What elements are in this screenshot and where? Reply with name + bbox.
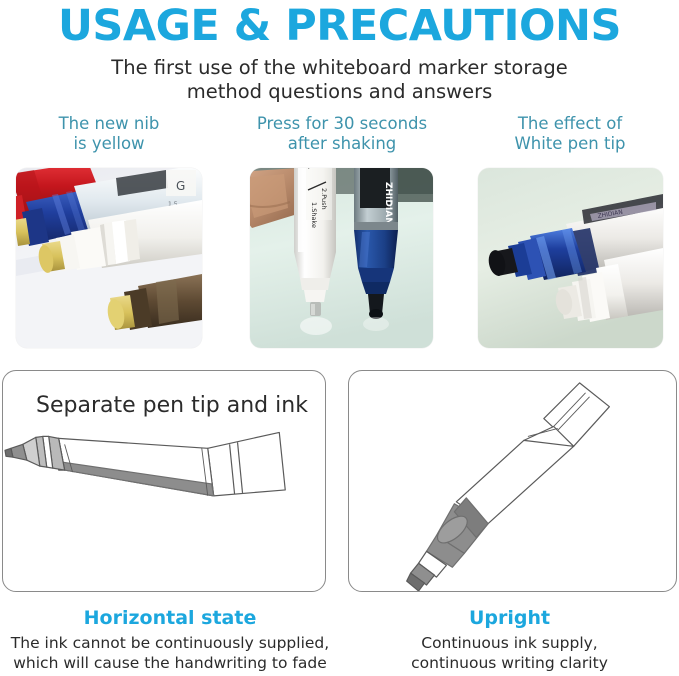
photo-caption-2: Press for 30 seconds after shaking bbox=[242, 114, 442, 154]
bottom-desc-upright-line-2: continuous writing clarity bbox=[340, 653, 679, 673]
bottom-block-upright: Upright Continuous ink supply, continuou… bbox=[340, 606, 679, 673]
product-photo-3: ZHIDIAN bbox=[478, 168, 663, 348]
bottom-desc-horizontal-line-1: The ink cannot be continuously supplied, bbox=[0, 633, 340, 653]
page-subtitle: The first use of the whiteboard marker s… bbox=[0, 56, 679, 104]
photo-caption-block-2: Press for 30 seconds after shaking bbox=[242, 114, 442, 154]
product-photo-1: G 1.5 bbox=[16, 168, 202, 348]
page-subtitle-line-2: method questions and answers bbox=[0, 80, 679, 104]
svg-text:2.Push: 2.Push bbox=[320, 188, 328, 210]
photo-caption-3: The effect of White pen tip bbox=[470, 114, 670, 154]
bottom-desc-upright-line-1: Continuous ink supply, bbox=[340, 633, 679, 653]
page-title: USAGE & PRECAUTIONS bbox=[0, 2, 679, 50]
photo-2-graphic: 2.Push 1.Shake ZHIDIAN bbox=[250, 168, 433, 348]
bottom-block-horizontal: Horizontal state The ink cannot be conti… bbox=[0, 606, 340, 673]
svg-text:1.Shake: 1.Shake bbox=[310, 202, 318, 228]
bottom-title-horizontal: Horizontal state bbox=[0, 606, 340, 630]
photo-caption-1: The new nib is yellow bbox=[16, 114, 202, 154]
photo-caption-3-line-2: White pen tip bbox=[470, 134, 670, 154]
photo-caption-3-line-1: The effect of bbox=[470, 114, 670, 134]
bottom-desc-horizontal: The ink cannot be continuously supplied,… bbox=[0, 633, 340, 673]
upright-pen-drawing bbox=[349, 371, 676, 591]
photo-caption-1-line-2: is yellow bbox=[16, 134, 202, 154]
svg-text:G: G bbox=[176, 179, 185, 193]
bottom-desc-upright: Continuous ink supply, continuous writin… bbox=[340, 633, 679, 673]
diagram-panel-upright bbox=[348, 370, 677, 592]
photo-caption-1-line-1: The new nib bbox=[16, 114, 202, 134]
bottom-desc-horizontal-line-2: which will cause the handwriting to fade bbox=[0, 653, 340, 673]
photo-3-graphic: ZHIDIAN bbox=[478, 168, 663, 348]
photo-caption-2-line-1: Press for 30 seconds bbox=[242, 114, 442, 134]
product-photo-2: 2.Push 1.Shake ZHIDIAN bbox=[250, 168, 433, 348]
svg-text:ZHIDIAN: ZHIDIAN bbox=[383, 182, 393, 225]
photo-1-graphic: G 1.5 bbox=[16, 168, 202, 348]
bottom-title-upright: Upright bbox=[340, 606, 679, 630]
photo-caption-block-3: The effect of White pen tip bbox=[470, 114, 670, 154]
separate-pen-tip-label: Separate pen tip and ink bbox=[36, 392, 308, 420]
page-subtitle-line-1: The first use of the whiteboard marker s… bbox=[0, 56, 679, 80]
photo-caption-block-1: The new nib is yellow bbox=[16, 114, 202, 154]
photo-caption-2-line-2: after shaking bbox=[242, 134, 442, 154]
